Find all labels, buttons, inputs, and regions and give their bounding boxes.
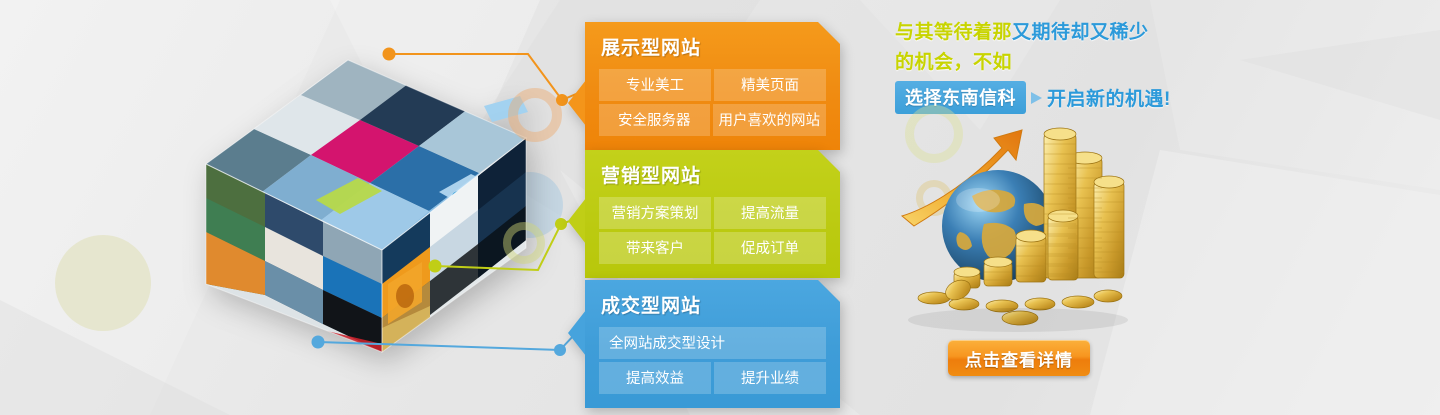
panel-cell[interactable]: 用户喜欢的网站 [713, 104, 827, 136]
panel-row: 提高效益 提升业绩 [599, 362, 826, 394]
panel-row: 全网站成交型设计 [599, 327, 826, 359]
headline-block: 与其等待着那又期待却又稀少 的机会，不如 选择东南信科 开启新的机遇! [895, 18, 1185, 114]
service-panel-conversion[interactable]: 成交型网站 全网站成交型设计 提高效益 提升业绩 [585, 280, 840, 408]
panel-body: 成交型网站 全网站成交型设计 提高效益 提升业绩 [585, 280, 840, 408]
panel-cell[interactable]: 提高效益 [599, 362, 711, 394]
arrow-right-icon [1031, 92, 1042, 104]
panel-cell[interactable]: 提高流量 [714, 197, 826, 229]
panel-row: 安全服务器 用户喜欢的网站 [599, 104, 826, 136]
headline-tail: 开启新的机遇! [1047, 84, 1171, 111]
panel-cell[interactable]: 营销方案策划 [599, 197, 711, 229]
panel-cell[interactable]: 精美页面 [714, 69, 826, 101]
panel-cell[interactable]: 专业美工 [599, 69, 711, 101]
panel-rows: 全网站成交型设计 提高效益 提升业绩 [599, 327, 826, 394]
panel-rows: 专业美工 精美页面 安全服务器 用户喜欢的网站 [599, 69, 826, 136]
panel-arrow-notch [568, 310, 586, 354]
panel-row: 带来客户 促成订单 [599, 232, 826, 264]
decor-circle-olive [55, 235, 151, 331]
banner-stage: 展示型网站 专业美工 精美页面 安全服务器 用户喜欢的网站 营销型网站 营销方案… [0, 0, 1440, 415]
website-cube-illustration [196, 52, 536, 362]
headline-segment-b: 又期待却又稀少 [1012, 22, 1149, 43]
service-panel-showcase[interactable]: 展示型网站 专业美工 精美页面 安全服务器 用户喜欢的网站 [585, 22, 840, 150]
panel-cell[interactable]: 带来客户 [599, 232, 711, 264]
globe-coins-illustration [898, 108, 1130, 340]
panel-cell[interactable]: 全网站成交型设计 [599, 327, 826, 359]
panel-title: 展示型网站 [601, 33, 826, 60]
panel-rows: 营销方案策划 提高流量 带来客户 促成订单 [599, 197, 826, 264]
view-details-button[interactable]: 点击查看详情 [948, 340, 1090, 376]
panel-arrow-notch [568, 80, 586, 124]
headline-line-1: 与其等待着那又期待却又稀少 [895, 18, 1185, 48]
panel-row: 专业美工 精美页面 [599, 69, 826, 101]
service-panel-marketing[interactable]: 营销型网站 营销方案策划 提高流量 带来客户 促成订单 [585, 150, 840, 278]
panel-cell[interactable]: 提升业绩 [714, 362, 826, 394]
panel-title: 营销型网站 [601, 161, 826, 188]
panel-title: 成交型网站 [601, 291, 826, 318]
panel-row: 营销方案策划 提高流量 [599, 197, 826, 229]
panel-body: 展示型网站 专业美工 精美页面 安全服务器 用户喜欢的网站 [585, 22, 840, 150]
panel-arrow-notch [568, 198, 586, 242]
panel-cell[interactable]: 安全服务器 [599, 104, 710, 136]
headline-line-2: 的机会，不如 [895, 48, 1185, 78]
panel-body: 营销型网站 营销方案策划 提高流量 带来客户 促成订单 [585, 150, 840, 278]
headline-segment-a: 与其等待着那 [895, 22, 1012, 43]
panel-cell[interactable]: 促成订单 [714, 232, 826, 264]
